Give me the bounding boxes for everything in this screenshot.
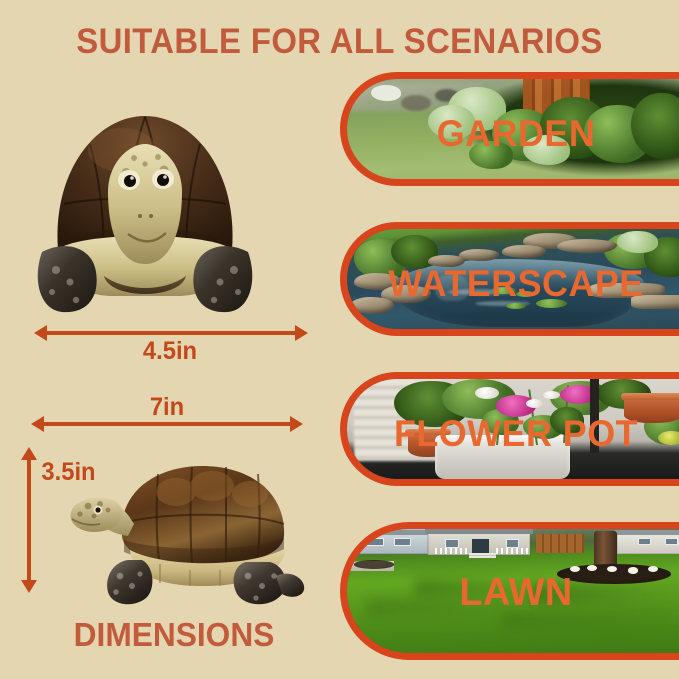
- scenario-card-garden[interactable]: GARDEN: [340, 72, 679, 186]
- card-caption-lawn: LAWN: [352, 571, 679, 615]
- length-dimension-arrow: [31, 415, 303, 433]
- arrow-shaft: [27, 456, 31, 584]
- card-caption-flowerpot: FLOWER POT: [352, 413, 679, 455]
- dimensions-caption: DIMENSIONS: [42, 616, 307, 654]
- scenario-card-lawn[interactable]: LAWN: [340, 522, 679, 660]
- scenario-card-waterscape[interactable]: WATERSCAPE: [340, 222, 679, 336]
- arrow-shaft: [40, 422, 294, 426]
- arrow-head-right-icon: [290, 416, 303, 432]
- product-infographic-poster: SUITABLE FOR ALL SCENARIOS: [0, 0, 679, 679]
- tortoise-front-view-image: [30, 100, 260, 315]
- card-caption-garden: GARDEN: [352, 113, 679, 155]
- width-dimension-label: 4.5in: [9, 337, 332, 366]
- height-dimension-arrow: [20, 447, 38, 593]
- card-caption-waterscape: WATERSCAPE: [352, 263, 679, 305]
- page-title: SUITABLE FOR ALL SCENARIOS: [20, 22, 658, 62]
- tortoise-side-view-image: [60, 440, 310, 610]
- arrow-shaft: [43, 331, 299, 335]
- arrow-head-down-icon: [21, 580, 37, 593]
- scenario-card-flowerpot[interactable]: FLOWER POT: [340, 372, 679, 486]
